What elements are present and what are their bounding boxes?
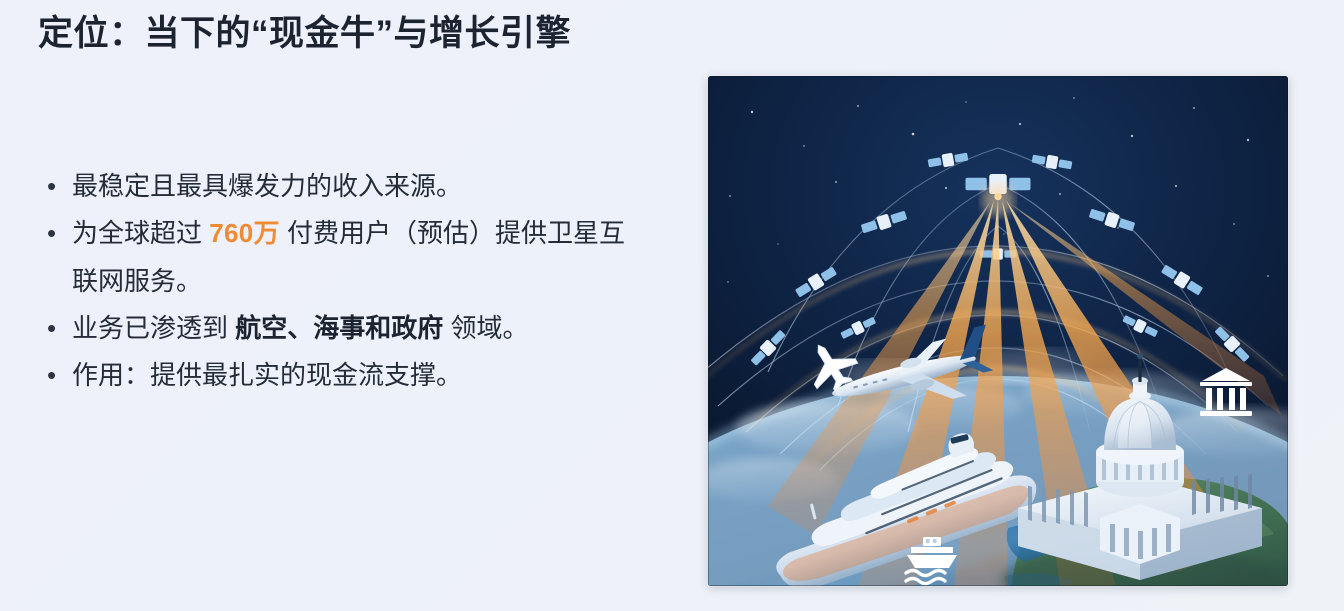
satellite-network-illustration [708,76,1288,586]
bullet-text: 作用：提供最扎实的现金流支撑。 [72,360,462,390]
illustration-image [708,76,1288,586]
bullet-item: •作用：提供最扎实的现金流支撑。 [44,352,644,399]
slide-root: 定位：当下的“现金牛”与增长引擎 •最稳定且最具爆发力的收入来源。•为全球超过 … [0,0,1344,611]
bullet-text: 最稳定且最具爆发力的收入来源。 [72,171,462,201]
plain-text: 领域。 [443,313,528,343]
bullet-marker-icon: • [47,352,75,399]
bullet-marker-icon: • [47,210,75,257]
bullet-marker-icon: • [47,305,75,352]
plain-text: 最稳定且最具爆发力的收入来源。 [72,171,462,201]
bullet-list: •最稳定且最具爆发力的收入来源。•为全球超过 760万 付费用户（预估）提供卫星… [44,163,644,400]
plain-text: 业务已渗透到 [72,313,235,343]
emphasis-text: 航空、海事和政府 [235,313,443,343]
bullet-item: •最稳定且最具爆发力的收入来源。 [44,163,644,210]
bullet-item: •业务已渗透到 航空、海事和政府 领域。 [44,305,644,352]
bullet-text: 为全球超过 760万 付费用户（预估）提供卫星互联网服务。 [72,218,625,295]
highlight-metric: 760万 [209,218,280,248]
bullet-text: 业务已渗透到 航空、海事和政府 领域。 [72,313,528,343]
plain-text: 为全球超过 [72,218,209,248]
bullet-marker-icon: • [47,163,75,210]
plain-text: 作用：提供最扎实的现金流支撑。 [72,360,462,390]
page-title: 定位：当下的“现金牛”与增长引擎 [38,10,571,57]
bullet-item: •为全球超过 760万 付费用户（预估）提供卫星互联网服务。 [44,210,644,305]
